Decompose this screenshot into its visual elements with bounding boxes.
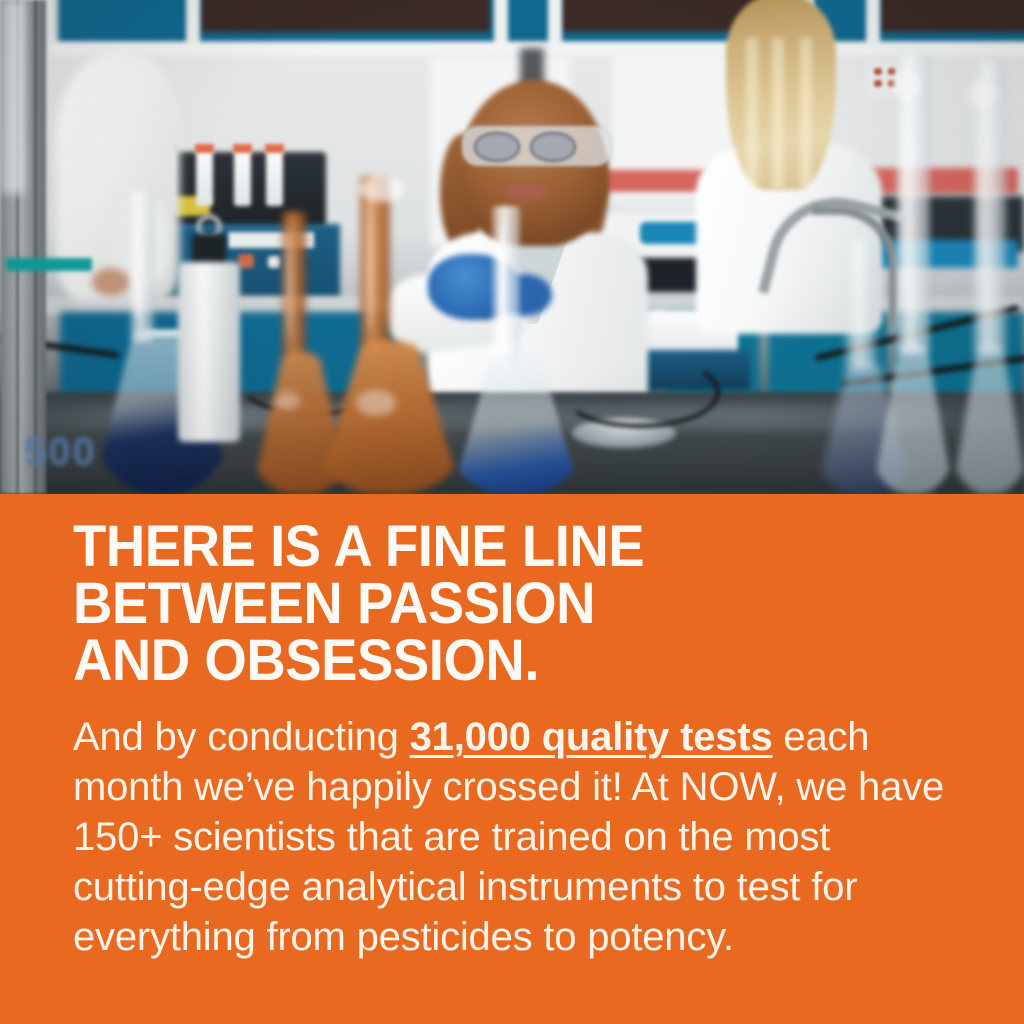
goggles-lens-left [474, 132, 520, 162]
scientist-mouth [504, 184, 546, 200]
hair-highlight-2 [772, 38, 784, 188]
sample-vial-4 [266, 148, 283, 206]
wash-bottle [178, 262, 240, 442]
body-emphasis-stat: 31,000 quality tests [410, 715, 773, 759]
cabinet-window-3 [880, 0, 1024, 32]
flask-clear-center [452, 206, 580, 494]
orange-text-panel: THERE IS A FINE LINE BETWEEN PASSION AND… [0, 494, 1024, 1024]
glass-highlight [976, 76, 984, 306]
flask-stopper-highlight [360, 176, 404, 202]
sample-vial-3 [234, 148, 251, 206]
cabinet-window-1 [200, 0, 490, 32]
flask-bulb [452, 352, 580, 494]
glass-highlight-bulb [274, 392, 300, 410]
glass-highlight [134, 212, 141, 322]
goggles-lens-right [530, 132, 576, 162]
glass-highlight-bulb [356, 390, 396, 416]
headline-line-1: THERE IS A FINE LINE [73, 518, 919, 575]
glass-highlight [366, 190, 374, 330]
sample-vial-cap-4 [265, 144, 284, 153]
headline: THERE IS A FINE LINE BETWEEN PASSION AND… [73, 518, 919, 689]
glass-highlight [900, 64, 908, 304]
flask-bulb [316, 340, 462, 494]
body-paragraph: And by conducting 31,000 quality tests e… [73, 712, 953, 962]
flask-bulb [952, 344, 1024, 494]
promo-graphic: 500 [0, 0, 1024, 1024]
flask-stopper-highlight [892, 70, 922, 100]
headline-line-3: AND OBSESSION. [73, 632, 919, 689]
flask-stopper-highlight [968, 80, 998, 108]
hair-highlight-3 [800, 38, 812, 188]
flask-neck [492, 206, 520, 364]
flask-clear-right-1 [872, 54, 954, 494]
flask-amber-primary [316, 176, 462, 494]
body-text-before: And by conducting [73, 715, 410, 759]
headline-line-2: BETWEEN PASSION [73, 575, 919, 632]
glass-highlight [498, 224, 505, 348]
flask-volume-label: 500 [24, 430, 120, 476]
flask-neck [360, 176, 390, 352]
flask-clear-right-2 [952, 62, 1024, 494]
glass-highlight [286, 228, 292, 340]
sample-vial-cap-3 [233, 144, 252, 153]
bench-cable-1 [560, 356, 720, 428]
sample-vial-cap-2 [195, 144, 214, 153]
flask-clear-right-4 [0, 0, 24, 194]
teal-tape-band [6, 258, 92, 271]
laboratory-photo: 500 [0, 0, 1024, 494]
pillar-seam-2 [34, 0, 37, 494]
flask-bulb [872, 344, 954, 494]
hair-highlight-1 [746, 38, 758, 188]
